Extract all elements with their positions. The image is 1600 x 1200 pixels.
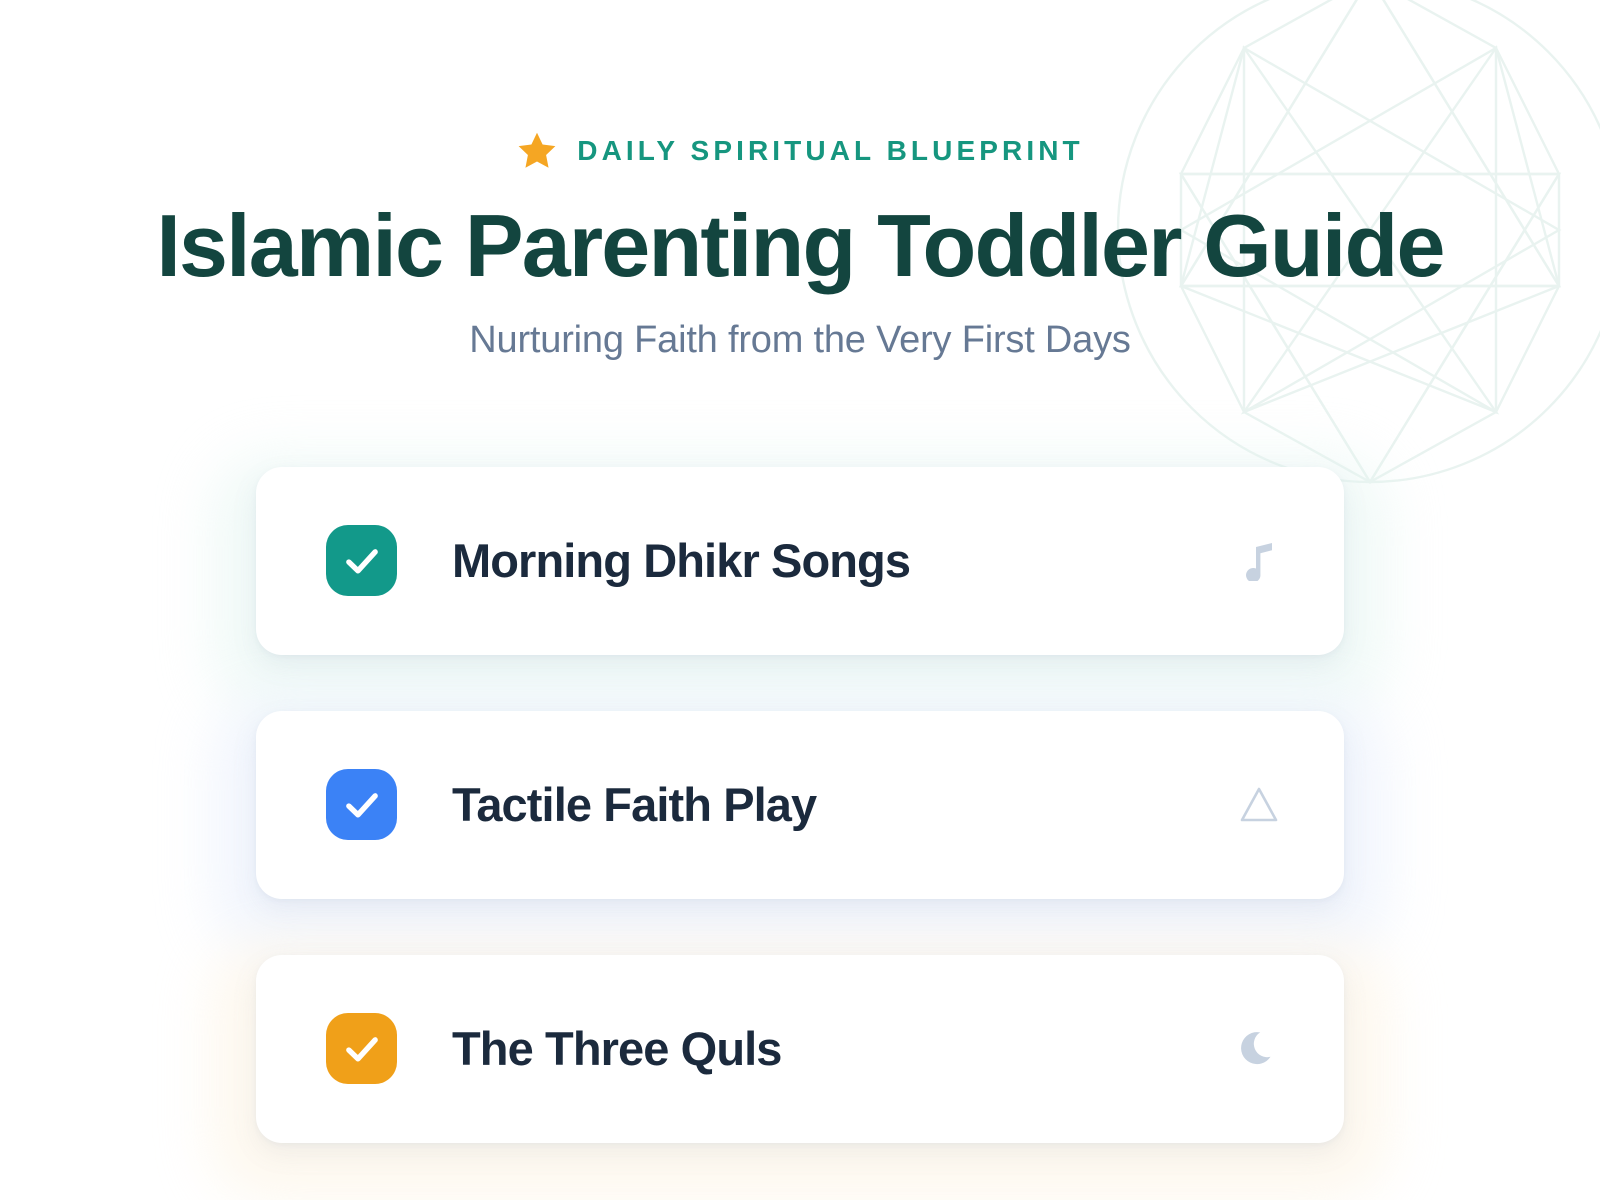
list-item-tactile-faith-play[interactable]: Tactile Faith Play: [256, 711, 1344, 899]
checklist: Morning Dhikr Songs Tactile Faith Play: [0, 467, 1600, 1143]
list-item-label: Morning Dhikr Songs: [452, 535, 910, 587]
eyebrow-label: DAILY SPIRITUAL BLUEPRINT: [577, 137, 1083, 165]
checkbox-the-three-quls[interactable]: [326, 1013, 397, 1084]
page-root: DAILY SPIRITUAL BLUEPRINT Islamic Parent…: [0, 0, 1600, 1200]
star-icon: [516, 130, 558, 172]
checkbox-morning-dhikr-songs[interactable]: [326, 525, 397, 596]
music-note-icon: [1232, 534, 1286, 588]
list-item-wrapper: Morning Dhikr Songs: [256, 467, 1344, 655]
list-item-morning-dhikr-songs[interactable]: Morning Dhikr Songs: [256, 467, 1344, 655]
check-icon: [341, 784, 383, 826]
triangle-outline-icon: [1232, 778, 1286, 832]
list-item-label: Tactile Faith Play: [452, 779, 816, 831]
list-item-the-three-quls[interactable]: The Three Quls: [256, 955, 1344, 1143]
page-subtitle: Nurturing Faith from the Very First Days: [0, 318, 1600, 364]
list-item-wrapper: The Three Quls: [256, 955, 1344, 1143]
crescent-moon-icon: [1232, 1022, 1286, 1076]
page-title: Islamic Parenting Toddler Guide: [0, 200, 1600, 292]
check-icon: [341, 1028, 383, 1070]
page-header: DAILY SPIRITUAL BLUEPRINT Islamic Parent…: [0, 0, 1600, 364]
list-item-wrapper: Tactile Faith Play: [256, 711, 1344, 899]
checkbox-tactile-faith-play[interactable]: [326, 769, 397, 840]
check-icon: [341, 540, 383, 582]
list-item-label: The Three Quls: [452, 1023, 782, 1075]
eyebrow-banner: DAILY SPIRITUAL BLUEPRINT: [0, 131, 1600, 171]
